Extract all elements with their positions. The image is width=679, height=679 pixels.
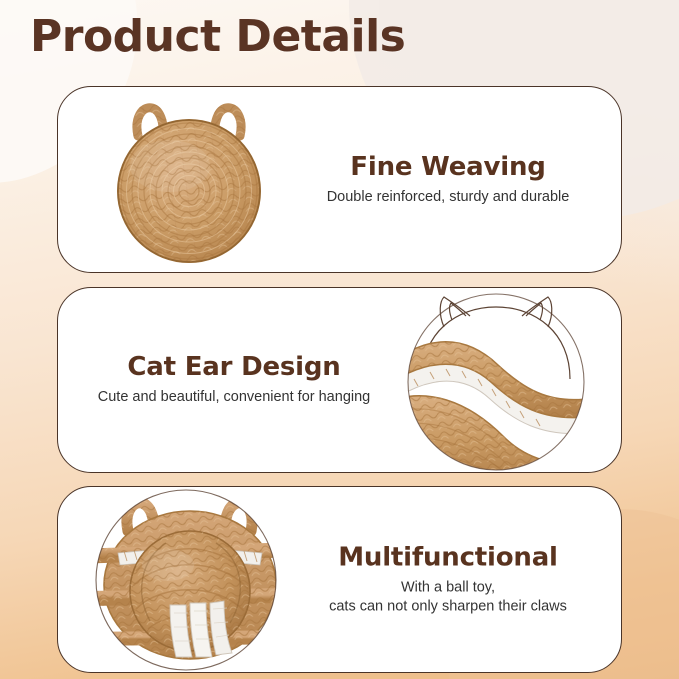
- feature-description-line-2: cats can not only sharpen their claws: [329, 599, 567, 615]
- feature-description: Cute and beautiful, convenient for hangi…: [64, 388, 404, 408]
- woven-cat-mat-full-image: [84, 90, 294, 270]
- feature-title: Fine Weaving: [283, 152, 613, 182]
- rope-ball-toy-on-mat-image: [66, 487, 316, 673]
- feature-text-multifunctional: Multifunctional With a ball toy, cats ca…: [283, 542, 613, 617]
- feature-text-cat-ear-design: Cat Ear Design Cute and beautiful, conve…: [64, 352, 404, 408]
- page-title: Product Details: [30, 12, 405, 63]
- feature-text-fine-weaving: Fine Weaving Double reinforced, sturdy a…: [283, 152, 613, 208]
- feature-description: With a ball toy, cats can not only sharp…: [283, 578, 613, 617]
- feature-card-cat-ear-design: Cat Ear Design Cute and beautiful, conve…: [57, 287, 622, 473]
- product-details-poster: Product Details: [0, 0, 679, 679]
- cat-ear-closeup-image: [386, 287, 611, 473]
- feature-description: Double reinforced, sturdy and durable: [283, 188, 613, 208]
- feature-description-line-1: With a ball toy,: [401, 579, 495, 595]
- feature-card-fine-weaving: Fine Weaving Double reinforced, sturdy a…: [57, 86, 622, 273]
- feature-title: Multifunctional: [283, 542, 613, 572]
- feature-title: Cat Ear Design: [64, 352, 404, 382]
- feature-card-multifunctional: Multifunctional With a ball toy, cats ca…: [57, 486, 622, 673]
